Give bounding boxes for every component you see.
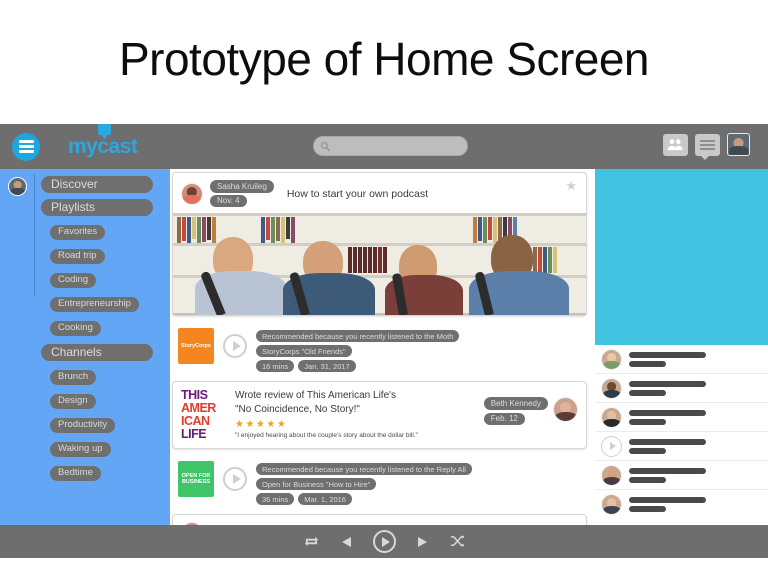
recommendation-reason: Recommended because you recently listene… (256, 330, 459, 342)
podcast-thumbnail[interactable]: OPEN FOR BUSINESS (178, 461, 214, 497)
review-line-1: Wrote review of This American Life's (235, 389, 484, 403)
sidebar-item-bedtime[interactable]: Bedtime (50, 466, 101, 481)
sidebar-item-entrepreneurship[interactable]: Entrepreneurship (50, 297, 139, 312)
sidebar-item-road-trip[interactable]: Road trip (50, 249, 105, 264)
list-item[interactable] (595, 432, 768, 461)
avatar[interactable] (553, 397, 578, 422)
sidebar-item-coding[interactable]: Coding (50, 273, 96, 288)
recommendation-row-storycorps[interactable]: StoryCorps Recommended because you recen… (170, 322, 595, 378)
logo-line-4: LIFE (181, 428, 225, 441)
slide: Prototype of Home Screen mycast (0, 0, 768, 576)
previous-icon[interactable] (340, 536, 352, 548)
right-panel (595, 169, 768, 525)
search-input[interactable] (331, 137, 456, 155)
recommendation-reason: Recommended because you recently listene… (256, 463, 472, 475)
redacted-text (629, 497, 706, 512)
redacted-bar (629, 410, 706, 416)
avatar[interactable] (8, 177, 27, 196)
avatar[interactable] (601, 494, 622, 515)
redacted-bar (629, 381, 706, 387)
redacted-bar (629, 352, 706, 358)
star-rating[interactable]: ★★★★★ (235, 419, 484, 430)
date-chip: Nov. 4 (210, 195, 247, 208)
author-chip[interactable]: Sasha Kruileg (210, 180, 274, 193)
sidebar-item-channels[interactable]: Channels (41, 344, 153, 361)
redacted-text (629, 410, 706, 425)
search-icon (320, 141, 331, 152)
next-icon[interactable] (417, 536, 429, 548)
repeat-icon[interactable] (304, 535, 319, 548)
avatar[interactable] (601, 349, 622, 370)
review-card[interactable]: THIS AMER ICAN LIFE Wrote review of This… (172, 381, 587, 449)
thumbnail-label: OPEN FOR BUSINESS (178, 473, 214, 485)
redacted-bar (629, 468, 706, 474)
brand-logo[interactable]: mycast (68, 136, 137, 157)
redacted-bar (629, 497, 706, 503)
sidebar-nav-list: Discover Playlists Favorites Road trip C… (41, 175, 166, 486)
sidebar-divider (34, 174, 35, 296)
sidebar-item-cooking[interactable]: Cooking (50, 321, 101, 336)
play-icon[interactable] (223, 467, 247, 491)
sidebar-item-brunch[interactable]: Brunch (50, 370, 96, 385)
date-badge: Mar. 1, 2016 (298, 493, 352, 505)
list-item[interactable] (595, 345, 768, 374)
review-text: Wrote review of This American Life's "No… (235, 389, 484, 439)
redacted-text (629, 352, 706, 367)
sidebar-item-design[interactable]: Design (50, 394, 96, 409)
avatar[interactable] (601, 378, 622, 399)
card-title[interactable]: How to start your own podcast (287, 188, 428, 200)
redacted-text (629, 381, 706, 396)
brand-label: mycast (68, 135, 137, 158)
avatar[interactable] (181, 183, 203, 205)
redacted-bar (629, 477, 666, 483)
search-box[interactable] (313, 136, 468, 156)
row-metadata: Recommended because you recently listene… (256, 461, 472, 505)
episode-title[interactable]: StoryCorps "Old Friends" (256, 345, 352, 357)
redacted-bar (629, 506, 666, 512)
redacted-bar (629, 448, 666, 454)
sidebar-item-playlists[interactable]: Playlists (41, 199, 153, 216)
row-metadata: Recommended because you recently listene… (256, 328, 459, 372)
chat-bubble-icon[interactable] (695, 134, 720, 156)
shuffle-icon[interactable] (450, 535, 464, 548)
thumbnail-label: StoryCorps (181, 343, 211, 349)
sidebar-item-discover[interactable]: Discover (41, 176, 153, 193)
player-bar (0, 525, 768, 558)
review-date-chip: Feb. 12 (484, 413, 525, 426)
podcast-photo (173, 213, 586, 315)
list-item[interactable] (595, 461, 768, 490)
card-header: Whitney Johnson (173, 515, 586, 525)
app-window: mycast (0, 124, 768, 558)
play-icon[interactable] (223, 334, 247, 358)
this-american-life-logo[interactable]: THIS AMER ICAN LIFE (181, 389, 225, 441)
card-header: Sasha Kruileg Nov. 4 How to start your o… (173, 173, 586, 213)
row-detail-chips: 16 mins Jan. 31, 2017 (256, 360, 459, 372)
recommendation-row-openforbusiness[interactable]: OPEN FOR BUSINESS Recommended because yo… (170, 455, 595, 511)
partial-card[interactable]: Whitney Johnson (172, 514, 587, 525)
redacted-bar (629, 361, 666, 367)
play-icon[interactable] (601, 436, 622, 457)
review-line-2: "No Coincidence, No Story!" (235, 403, 484, 417)
duration-badge: 36 mins (256, 493, 294, 505)
redacted-text (629, 439, 706, 454)
sidebar-item-productivity[interactable]: Productivity (50, 418, 115, 433)
row-detail-chips: 36 mins Mar. 1, 2016 (256, 493, 472, 505)
redacted-bar (629, 390, 666, 396)
page-title: Prototype of Home Screen (0, 32, 768, 86)
review-quote: "I enjoyed hearing about the couple's st… (235, 432, 484, 439)
review-body-wrap: THIS AMER ICAN LIFE Wrote review of This… (173, 382, 586, 448)
star-icon[interactable]: ★ (565, 179, 577, 192)
nav-actions (663, 133, 750, 156)
date-badge: Jan. 31, 2017 (298, 360, 355, 372)
top-navigation-bar: mycast (0, 124, 768, 169)
card-meta: Sasha Kruileg Nov. 4 (210, 180, 274, 207)
featured-banner[interactable] (595, 169, 768, 345)
play-icon[interactable] (373, 530, 396, 553)
list-item[interactable] (595, 374, 768, 403)
reviewer-info: Beth Kennedy Feb. 12 (484, 389, 578, 425)
friends-icon[interactable] (663, 134, 688, 156)
avatar[interactable] (601, 465, 622, 486)
episode-title[interactable]: Open for Business "How to Hire" (256, 478, 376, 490)
list-item[interactable] (595, 403, 768, 432)
sidebar-item-waking-up[interactable]: Waking up (50, 442, 111, 457)
left-sidebar: Discover Playlists Favorites Road trip C… (0, 169, 170, 525)
reviewer-name-chip[interactable]: Beth Kennedy (484, 397, 548, 410)
duration-badge: 16 mins (256, 360, 294, 372)
featured-card[interactable]: Sasha Kruileg Nov. 4 How to start your o… (172, 172, 587, 316)
redacted-bar (629, 439, 706, 445)
app-body: Discover Playlists Favorites Road trip C… (0, 169, 768, 525)
content-feed[interactable]: Sasha Kruileg Nov. 4 How to start your o… (170, 169, 595, 525)
search-container[interactable] (313, 136, 468, 156)
avatar[interactable] (727, 133, 750, 156)
podcast-thumbnail[interactable]: StoryCorps (178, 328, 214, 364)
list-item[interactable] (595, 490, 768, 519)
reviewer-chips: Beth Kennedy Feb. 12 (484, 397, 548, 425)
microphone-icon (98, 124, 111, 135)
sidebar-item-favorites[interactable]: Favorites (50, 225, 105, 240)
right-panel-list (595, 345, 768, 519)
avatar[interactable] (601, 407, 622, 428)
redacted-bar (629, 419, 666, 425)
hamburger-icon[interactable] (12, 133, 40, 161)
redacted-text (629, 468, 706, 483)
